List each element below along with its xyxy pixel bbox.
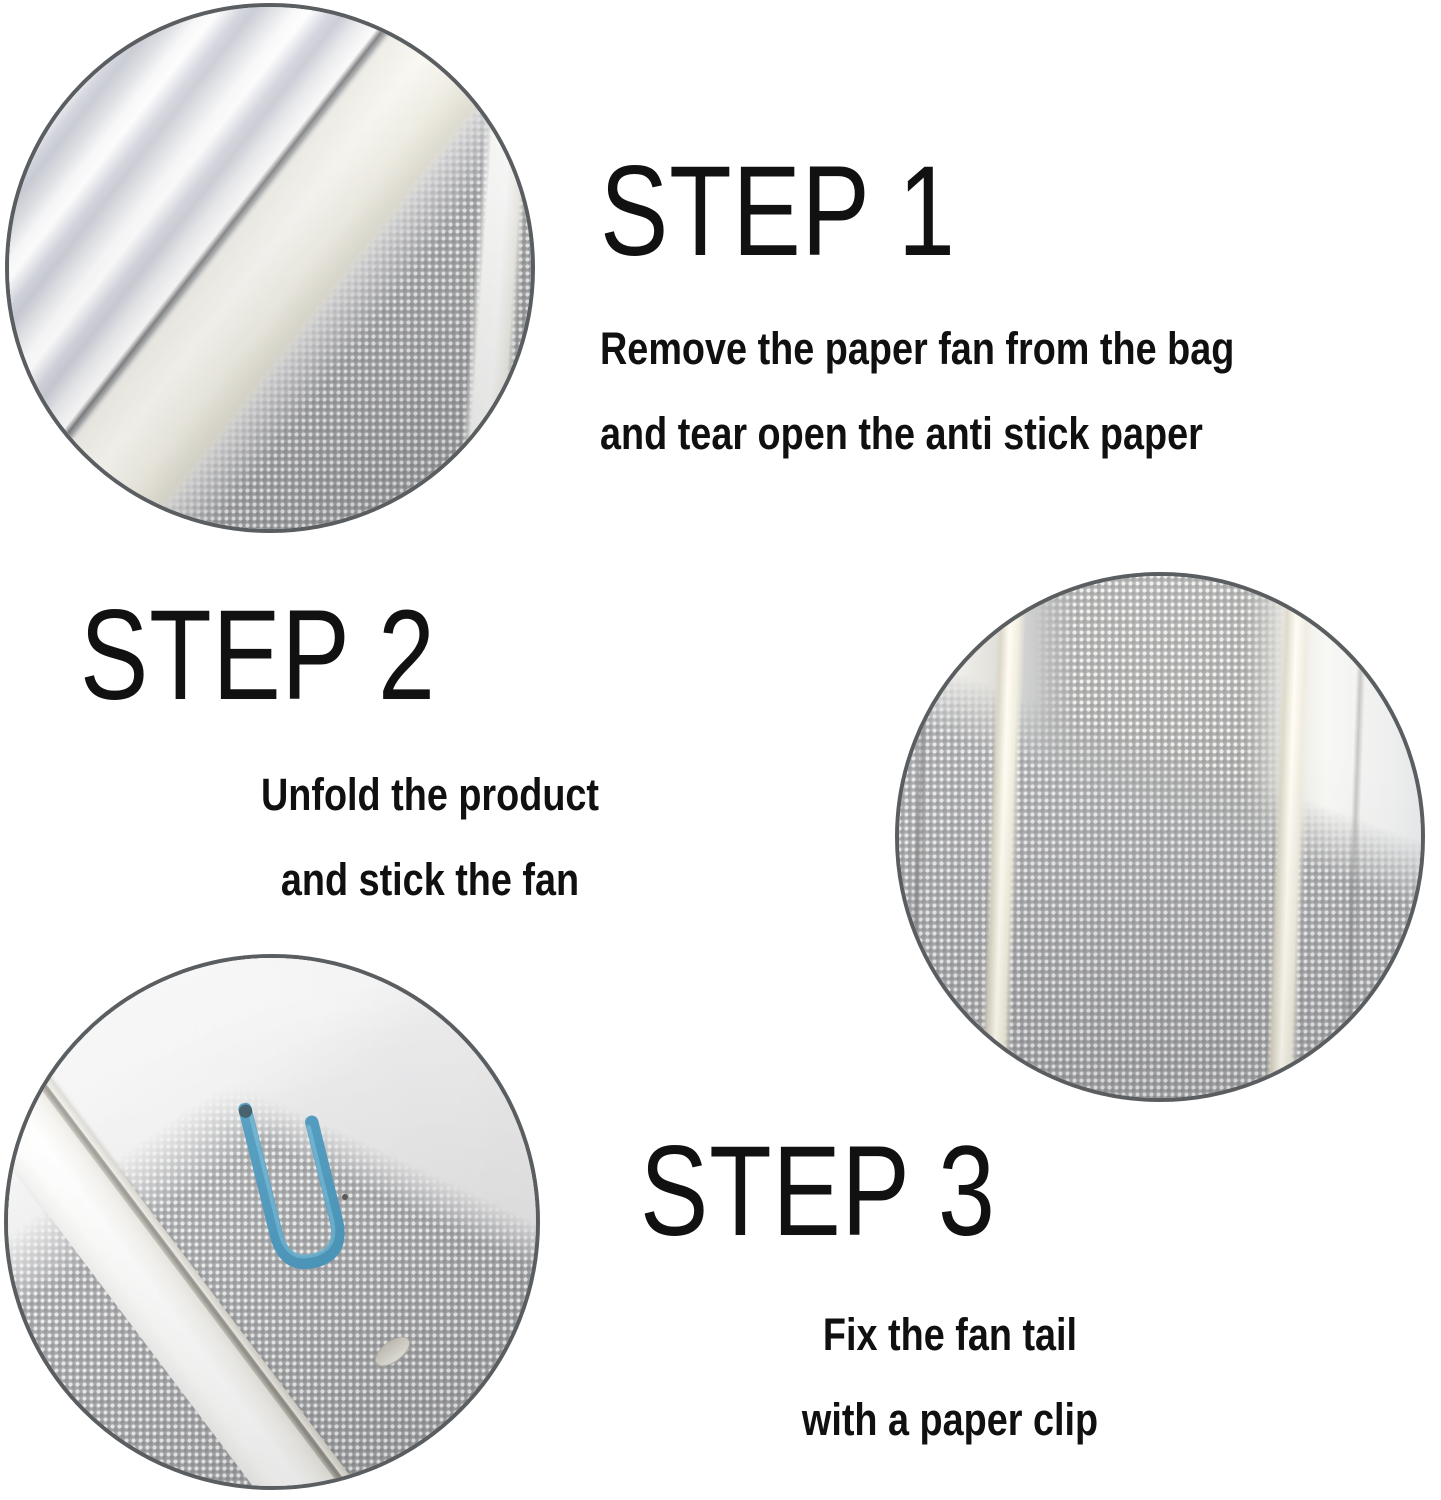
photo-shading-layer [899,576,1421,1098]
step-2-text-block: STEP 2 Unfold the product and stick the … [80,592,780,902]
step-2-description: Unfold the product and stick the fan [80,772,780,902]
step-3-line-1: Fix the fan tail [690,1312,1211,1357]
step-1-title: STEP 1 [600,148,1204,276]
instruction-sheet: STEP 1 Remove the paper fan from the bag… [0,0,1441,1500]
step-2-line-2: and stick the fan [136,857,724,902]
step-2-line-1: Unfold the product [136,772,724,817]
step-1-description: Remove the paper fan from the bag and te… [600,326,1355,456]
step-3-description: Fix the fan tail with a paper clip [640,1312,1260,1442]
step-2-title: STEP 2 [80,592,640,720]
step-3-text-block: STEP 3 Fix the fan tail with a paper cli… [640,1128,1260,1442]
step-3-title: STEP 3 [640,1128,1136,1256]
step-1-line-2: and tear open the anti stick paper [600,411,1234,456]
step-1-text-block: STEP 1 Remove the paper fan from the bag… [600,148,1355,456]
photo-shading-layer [8,958,536,1486]
step-3-photo [4,954,540,1490]
step-3-line-2: with a paper clip [690,1397,1211,1442]
step-1-photo [5,3,535,533]
step-2-photo [895,572,1425,1102]
step-1-photo-content [9,7,531,529]
step-2-photo-content [899,576,1421,1098]
photo-shading-layer [9,7,531,529]
step-3-photo-content [8,958,536,1486]
step-1-line-1: Remove the paper fan from the bag [600,326,1234,371]
